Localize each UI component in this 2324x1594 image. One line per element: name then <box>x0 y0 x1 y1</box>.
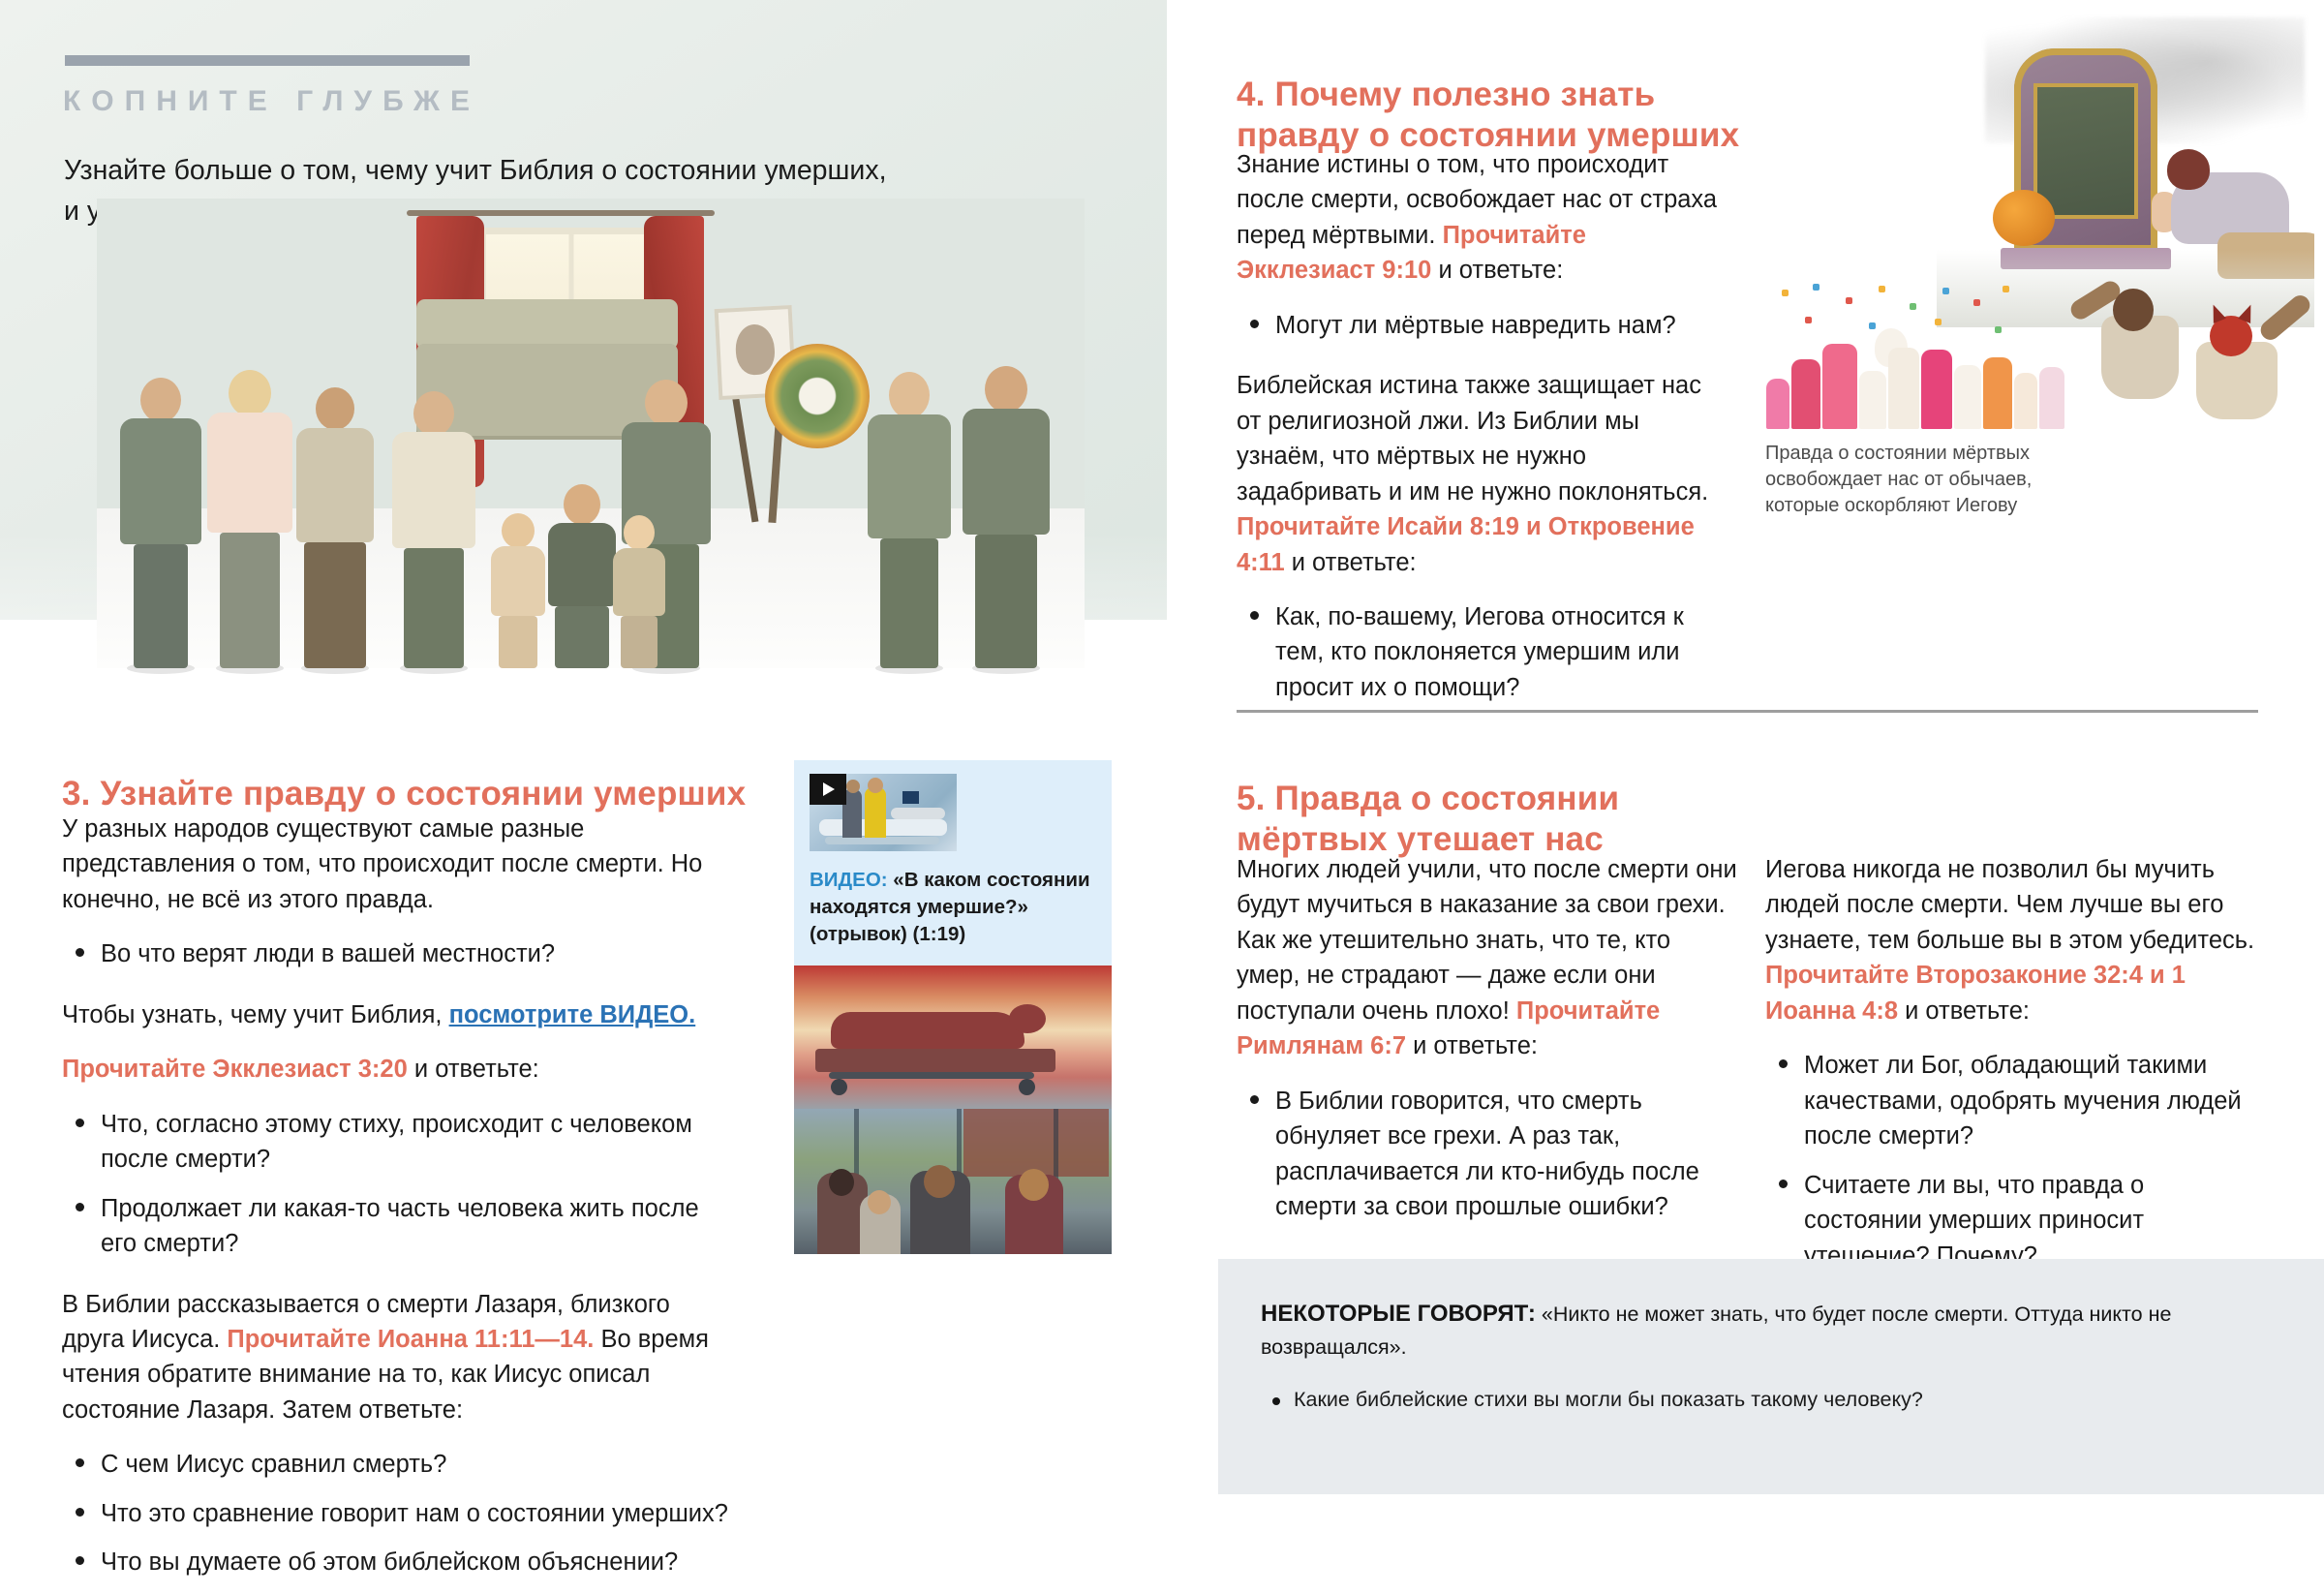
section-3-para-3: Прочитайте Экклезиаст 3:20 и ответьте: <box>62 1052 730 1087</box>
section-5-heading: 5. Правда о состоянии мёртвых утешает на… <box>1237 779 1779 860</box>
parade-figure <box>1921 350 1952 429</box>
customs-illustration <box>1733 8 2314 434</box>
section-4-bullets-2: Как, по-вашему, Иегова относится к тем, … <box>1237 599 1721 705</box>
bench-back <box>416 299 678 350</box>
para-2-suffix: и ответьте: <box>1285 549 1417 576</box>
section-5-right-bullets: Может ли Бог, обладающий такими качества… <box>1765 1048 2259 1273</box>
kicker-rule <box>65 55 470 66</box>
list-item: Могут ли мёртвые навредить нам? <box>1275 308 1721 343</box>
para-1-suffix: и ответьте: <box>1431 257 1563 284</box>
kneeling-man-head <box>2167 149 2210 190</box>
section-3-para-4: В Библии рассказывается о смерти Лазаря,… <box>62 1287 730 1428</box>
video-card[interactable]: ВИДЕО: «В каком состоянии находятся умер… <box>794 760 1112 966</box>
mourner-figure <box>957 366 1055 668</box>
some-say-label: НЕКОТОРЫЕ ГОВОРЯТ: <box>1261 1301 1536 1327</box>
seated-child-figure <box>488 513 548 668</box>
list-item: Что, согласно этому стиху, происходит с … <box>101 1107 730 1178</box>
section-4-body: Знание истины о том, что происходит посл… <box>1237 147 1721 719</box>
play-icon[interactable] <box>810 774 846 805</box>
list-item: Во что верят люди в вашей местности? <box>101 936 730 971</box>
seated-child-figure <box>610 515 668 668</box>
parade-figure <box>1888 348 1919 429</box>
morgue-photo <box>794 966 1112 1109</box>
section-3-para-2: Чтобы узнать, чему учит Библия, посмотри… <box>62 997 730 1032</box>
parade-figure <box>1983 357 2012 429</box>
list-item: В Библии говорится, что смерть обнуляет … <box>1275 1084 1740 1225</box>
parade-figure <box>1954 365 1981 429</box>
mourner-figure <box>289 382 382 668</box>
video-label: ВИДЕО: <box>810 869 888 891</box>
left-para-suffix: и ответьте: <box>1406 1032 1538 1059</box>
parade-figure <box>1791 359 1820 429</box>
funeral-wreath <box>765 344 870 448</box>
parade-figure <box>1766 379 1789 429</box>
list-item: Как, по-вашему, Иегова относится к тем, … <box>1275 599 1721 705</box>
section-5-left-column: Многих людей учили, что после смерти они… <box>1237 852 1740 1239</box>
list-item: Продолжает ли какая-то часть человека жи… <box>101 1191 730 1262</box>
section-3-bullets-3: С чем Иисус сравнил смерть? Что это срав… <box>62 1447 730 1579</box>
section-4-para-1: Знание истины о том, что происходит посл… <box>1237 147 1721 289</box>
seated-adult-figure <box>544 484 620 668</box>
list-item: Считаете ли вы, что правда о состоянии у… <box>1804 1168 2259 1273</box>
section-5-right-para: Иегова никогда не позволил бы мучить люд… <box>1765 852 2259 1028</box>
brochure-page: КОПНИТЕ ГЛУБЖЕ Узнайте больше о том, чем… <box>0 0 2324 1494</box>
parade-figure <box>1859 371 1886 429</box>
scripture-reference[interactable]: Прочитайте Иоанна 11:11—14. <box>227 1326 594 1353</box>
scripture-reference[interactable]: Прочитайте Экклезиаст 3:20 <box>62 1056 408 1083</box>
list-item: С чем Иисус сравнил смерть? <box>101 1447 730 1482</box>
video-caption: ВИДЕО: «В каком состоянии находятся умер… <box>810 867 1096 948</box>
section-5-left-bullets: В Библии говорится, что смерть обнуляет … <box>1237 1084 1740 1225</box>
section-3-bullets-1: Во что верят люди в вашей местности? <box>62 936 730 971</box>
funeral-illustration <box>97 199 1085 668</box>
right-para-suffix: и ответьте: <box>1898 997 2030 1025</box>
video-thumbnail[interactable] <box>810 774 957 851</box>
section-3-body: У разных народов существуют самые разные… <box>62 812 730 1594</box>
section-3-heading: 3. Узнайте правду о состоянии умерших <box>62 774 779 813</box>
mourner-figure <box>201 370 298 668</box>
illustration-caption: Правда о состоянии мёртвых освобождает н… <box>1765 441 2046 519</box>
parade-figure <box>2039 367 2064 429</box>
list-item: Что вы думаете об этом библейском объясн… <box>101 1545 730 1579</box>
section-3-para-1: У разных народов существуют самые разные… <box>62 812 730 917</box>
mourner-figure <box>387 387 480 668</box>
some-say-text: НЕКОТОРЫЕ ГОВОРЯТ: «Никто не может знать… <box>1261 1298 2281 1363</box>
mourner-figure <box>114 378 207 668</box>
mourner-figure <box>862 372 957 668</box>
section-3-bullets-2: Что, согласно этому стиху, происходит с … <box>62 1107 730 1262</box>
para-3-suffix: и ответьте: <box>408 1056 539 1083</box>
watch-video-link[interactable]: посмотрите ВИДЕО. <box>449 1001 696 1028</box>
section-5-left-para: Многих людей учили, что после смерти они… <box>1237 852 1740 1064</box>
right-para-prefix: Иегова никогда не позволил бы мучить люд… <box>1765 856 2254 954</box>
section-5-right-column: Иегова никогда не позволил бы мучить люд… <box>1765 852 2259 1287</box>
day-of-the-dead-parade <box>1753 284 2082 429</box>
some-say-panel: НЕКОТОРЫЕ ГОВОРЯТ: «Никто не может знать… <box>1218 1259 2324 1494</box>
parade-figure <box>1822 344 1857 429</box>
section-4-heading: 4. Почему полезно знать правду о состоян… <box>1237 75 1779 156</box>
left-para-prefix: Многих людей учили, что после смерти они… <box>1237 856 1737 1025</box>
parade-figure <box>2014 373 2037 429</box>
section-4-para-2: Библейская истина также защищает нас от … <box>1237 368 1721 580</box>
offering-flowers <box>1993 190 2055 246</box>
para-2-prefix: Чтобы узнать, чему учит Библия, <box>62 1001 449 1028</box>
list-item: Что это сравнение говорит нам о состояни… <box>101 1496 730 1531</box>
lede-line-1: Узнайте больше о том, чему учит Библия о… <box>64 155 887 186</box>
masked-dancer-head <box>2113 289 2154 331</box>
section-4-bullets-1: Могут ли мёртвые навредить нам? <box>1237 308 1721 343</box>
section-divider <box>1237 710 2258 713</box>
para-2-prefix: Библейская истина также защищает нас от … <box>1237 372 1708 505</box>
media-column: ВИДЕО: «В каком состоянии находятся умер… <box>794 760 1112 1254</box>
bus-shelter-photo <box>794 1109 1112 1254</box>
kicker-label: КОПНИТЕ ГЛУБЖЕ <box>63 85 480 118</box>
list-item: Может ли Бог, обладающий такими качества… <box>1804 1048 2259 1153</box>
some-say-bullets: Какие библейские стихи вы могли бы показ… <box>1261 1388 2281 1412</box>
list-item: Какие библейские стихи вы могли бы показ… <box>1294 1388 2281 1412</box>
